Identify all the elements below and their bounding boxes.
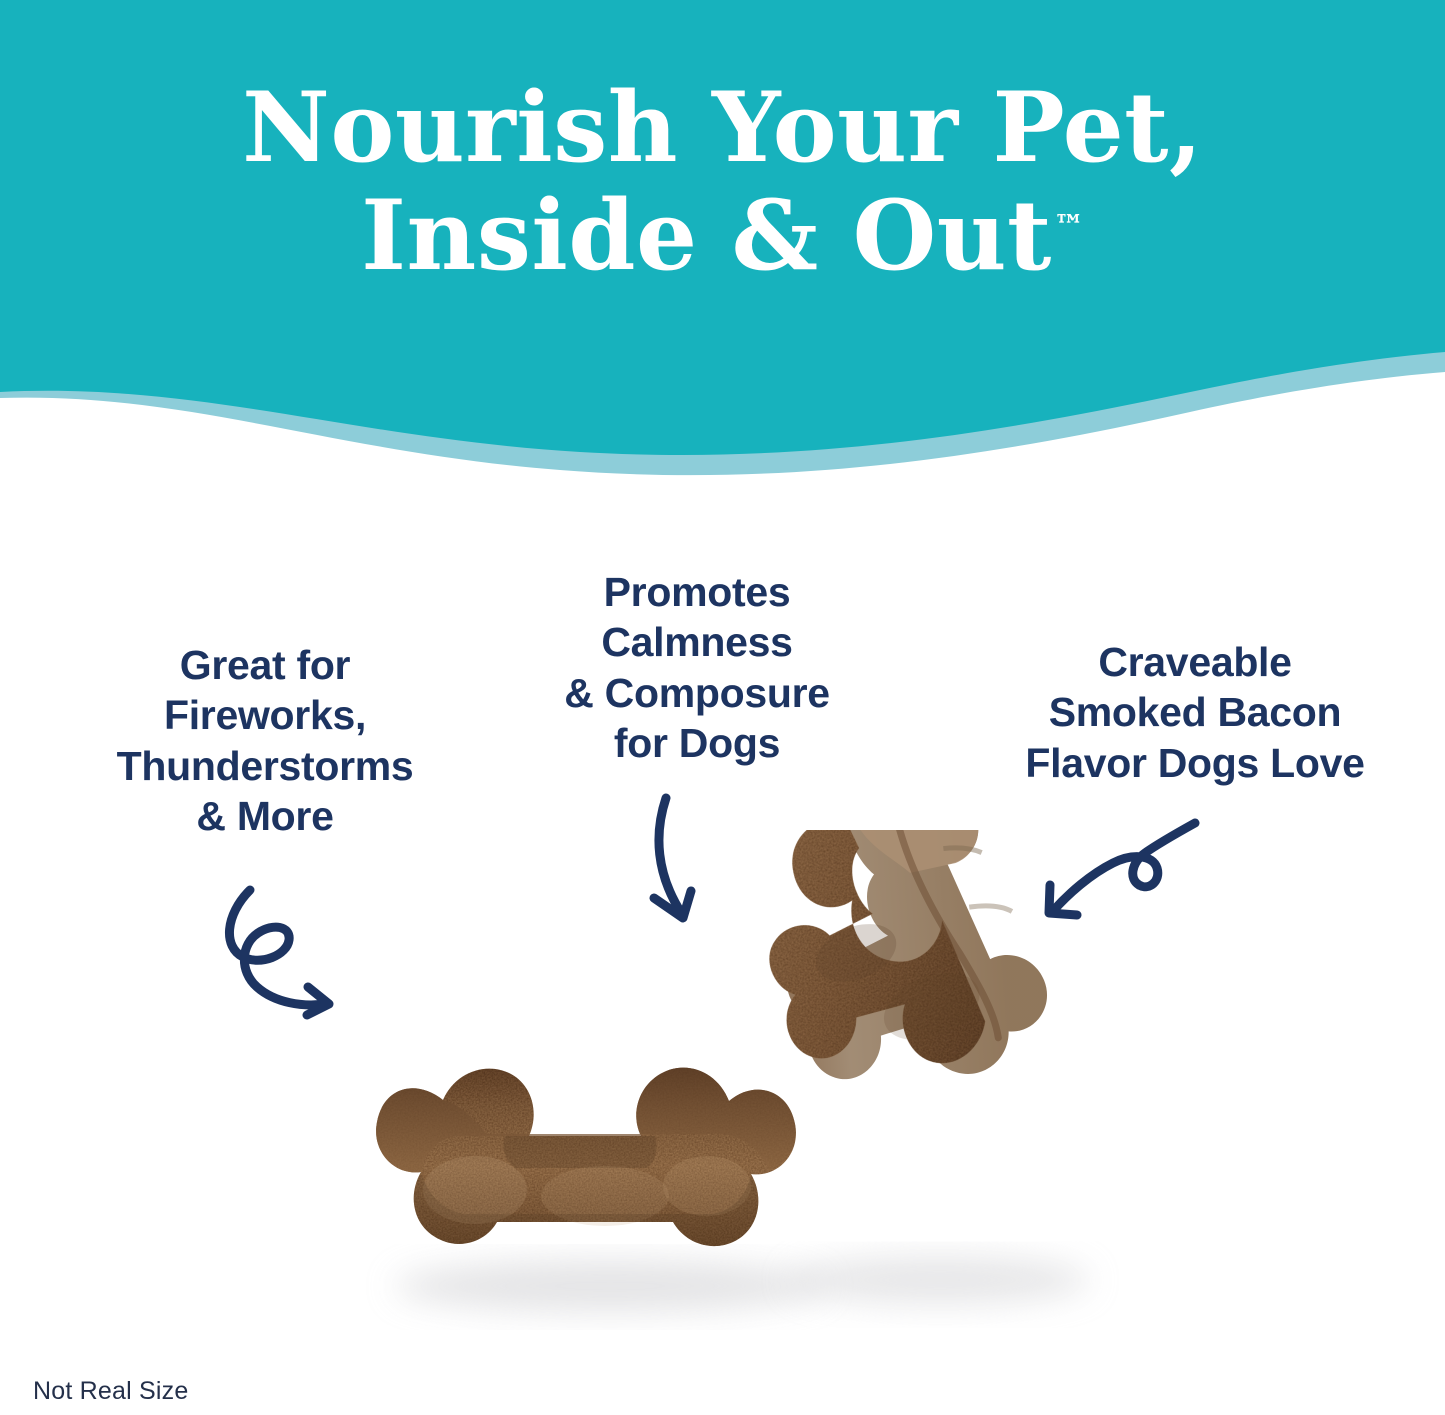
- treat-shadow-front: [395, 1260, 825, 1312]
- footnote-not-real-size: Not Real Size: [33, 1377, 188, 1406]
- callout-promotes-calmness: Promotes Calmness & Composure for Dogs: [487, 567, 907, 769]
- curly-loop-arrow-right-down-icon: [195, 885, 385, 1025]
- banner-wave-shape: [0, 0, 1445, 490]
- treat-back: [715, 830, 1067, 1133]
- callout-craveable-bacon-flavor: Craveable Smoked Bacon Flavor Dogs Love: [955, 637, 1435, 788]
- treat-shadow-back: [790, 1256, 1090, 1304]
- product-infographic: Nourish Your Pet, Inside & Out™ Great fo…: [0, 0, 1445, 1415]
- callout-great-for-fireworks: Great for Fireworks, Thunderstorms & Mor…: [35, 640, 495, 842]
- curly-loop-arrow-left-down-icon: [1025, 815, 1200, 935]
- curved-arrow-down-icon: [618, 788, 748, 933]
- header-banner: Nourish Your Pet, Inside & Out™: [0, 0, 1445, 490]
- treat-front: [376, 1068, 796, 1247]
